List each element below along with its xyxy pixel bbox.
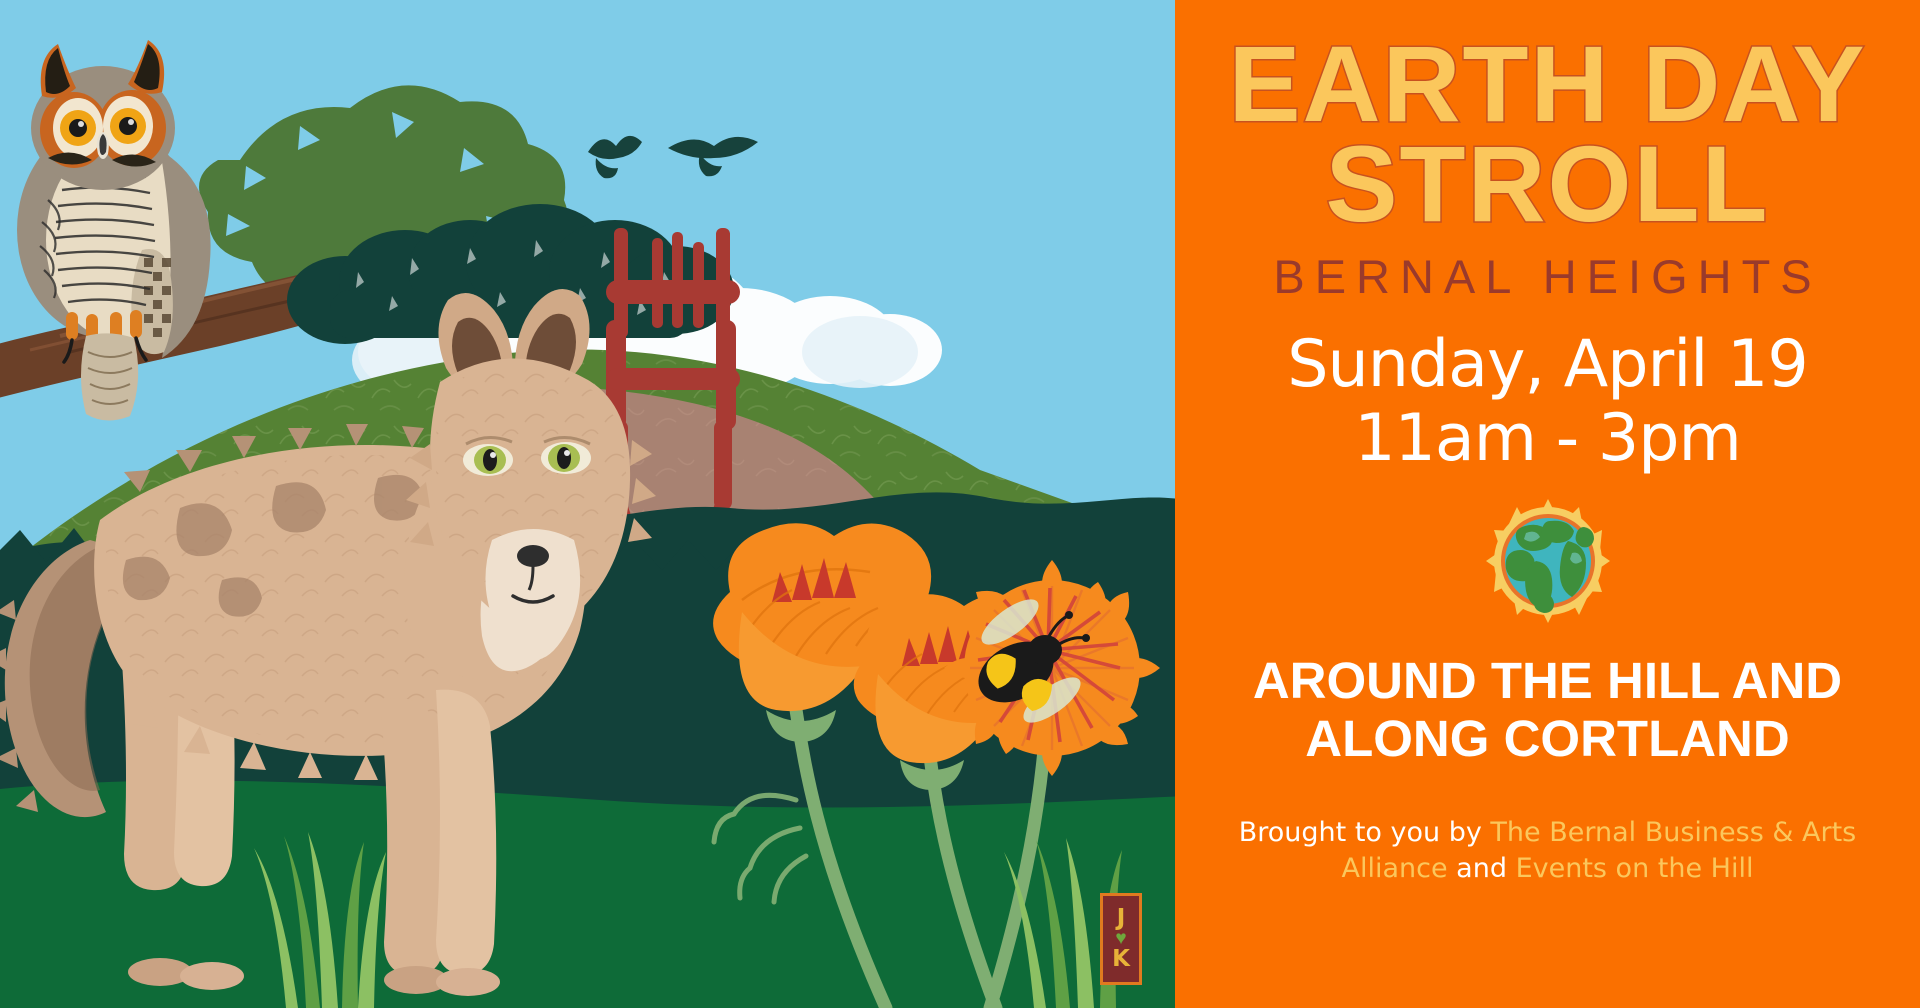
title-block: EARTH DAY STROLL [1175, 34, 1920, 235]
title-line-2: STROLL [1175, 134, 1920, 234]
place-block: AROUND THE HILL AND ALONG CORTLAND [1253, 652, 1842, 768]
place-line-1: AROUND THE HILL AND [1253, 652, 1842, 710]
artist-signature-stamp: J ♥ K [1100, 893, 1142, 985]
earth-sun-emblem [1484, 496, 1612, 626]
title-line-1: EARTH DAY [1175, 34, 1920, 134]
credits-intro: Brought to you by [1239, 817, 1491, 848]
event-date: Sunday, April 19 [1287, 330, 1807, 400]
credits-conjunction: and [1448, 853, 1516, 884]
heart-icon: ♥ [1115, 930, 1126, 947]
signature-initial-bottom: K [1112, 948, 1130, 971]
earth-sun-icon [1484, 497, 1612, 625]
credits-org-2: Events on the Hill [1516, 853, 1754, 884]
event-time: 11am - 3pm [1354, 404, 1741, 474]
info-panel: EARTH DAY STROLL BERNAL HEIGHTS Sunday, … [1175, 0, 1920, 1008]
credits-block: Brought to you by The Bernal Business & … [1228, 815, 1868, 888]
place-line-2: ALONG CORTLAND [1253, 710, 1842, 768]
illustration-panel: J ♥ K [0, 0, 1175, 1008]
signature-initial-top: J [1117, 907, 1126, 930]
poster-canvas: J ♥ K EARTH DAY STROLL BERNAL HEIGHTS Su… [0, 0, 1920, 1008]
location-subtitle: BERNAL HEIGHTS [1273, 249, 1821, 304]
poppies-and-bee [0, 0, 1175, 1008]
